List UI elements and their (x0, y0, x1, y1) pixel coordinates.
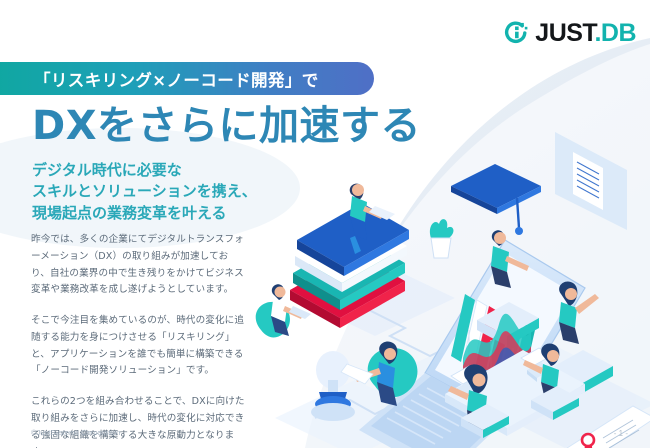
eyebrow-banner: 「リスキリング×ノーコード開発」で (0, 62, 374, 95)
subheadline-line-3: 現場起点の業務変革を叶える (32, 203, 257, 224)
subheadline-line-2: スキルとソリューションを携え、 (32, 181, 257, 202)
body-paragraph: これらの2つを組み合わせることで、DXに向けた取り組みをさらに加速し、時代の変化… (31, 394, 246, 448)
brand-logo: JUST.DB (504, 20, 636, 46)
eyebrow-banner-text: 「リスキリング×ノーコード開発」で (34, 67, 319, 91)
body-copy: 昨今では、多くの企業にてデジタルトランスフォーメーション（DX）の取り組みが加速… (31, 232, 246, 448)
body-paragraph: 昨今では、多くの企業にてデジタルトランスフォーメーション（DX）の取り組みが加速… (31, 232, 246, 299)
brand-logo-text: JUST.DB (535, 21, 636, 46)
brand-name-secondary: DB (601, 19, 636, 47)
isometric-illustration (255, 118, 650, 448)
slide-canvas: JUST.DB 「リスキリング×ノーコード開発」で DXをさらに加速する デジタ… (0, 0, 650, 448)
potted-plant (430, 219, 454, 258)
page-number: - 1 - (614, 429, 628, 438)
copyright-text: ©JustSystems Corporation (31, 428, 120, 437)
subheadline: デジタル時代に必要な スキルとソリューションを携え、 現場起点の業務変革を叶える (32, 160, 257, 224)
page-title: DXをさらに加速する (32, 103, 421, 149)
brand-name-primary: JUST (535, 19, 594, 47)
justdb-circle-mark-icon (504, 20, 530, 46)
wall-display-panel (555, 132, 627, 230)
subheadline-line-1: デジタル時代に必要な (32, 160, 257, 181)
graduation-cap-icon (451, 164, 541, 235)
body-paragraph: そこで今注目を集めているのが、時代の変化に追随する能力を身につけさせる「リスキリ… (31, 313, 246, 380)
